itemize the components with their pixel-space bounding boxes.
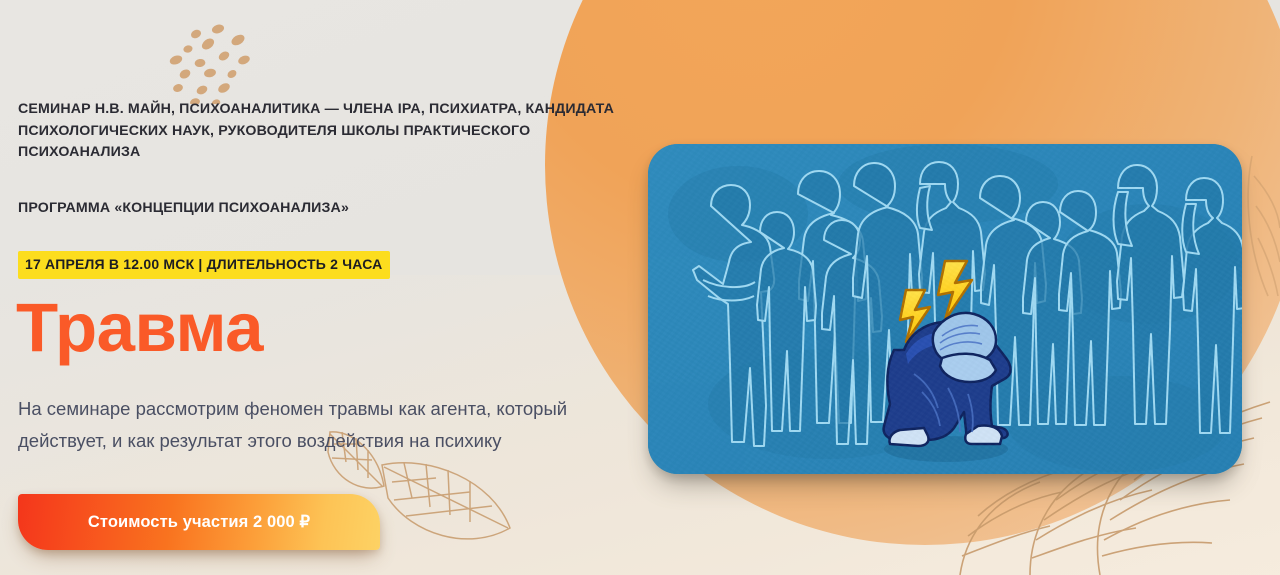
page-title: Травма <box>16 288 263 368</box>
hero-illustration: Человек сидит на корточках, обхватив кол… <box>648 144 1242 474</box>
seminar-kicker: СЕМИНАР Н.В. МАЙН, ПСИХОАНАЛИТИКА — ЧЛЕН… <box>18 99 633 164</box>
date-time-badge: 17 АПРЕЛЯ В 12.00 МСК | ДЛИТЕЛЬНОСТЬ 2 Ч… <box>18 251 390 279</box>
seated-figure-shoe-left <box>889 428 928 446</box>
hero-content: СЕМИНАР Н.В. МАЙН, ПСИХОАНАЛИТИКА — ЧЛЕН… <box>18 0 658 575</box>
hero-page: СЕМИНАР Н.В. МАЙН, ПСИХОАНАЛИТИКА — ЧЛЕН… <box>0 0 1280 575</box>
hero-description: На семинаре рассмотрим феномен травмы ка… <box>18 393 618 457</box>
program-line: ПРОГРАММА «КОНЦЕПЦИИ ПСИХОАНАЛИЗА» <box>18 198 633 220</box>
crowd-illustration-svg: Человек сидит на корточках, обхватив кол… <box>648 144 1242 474</box>
price-cta-button[interactable]: Стоимость участия 2 000 ₽ <box>18 494 380 550</box>
